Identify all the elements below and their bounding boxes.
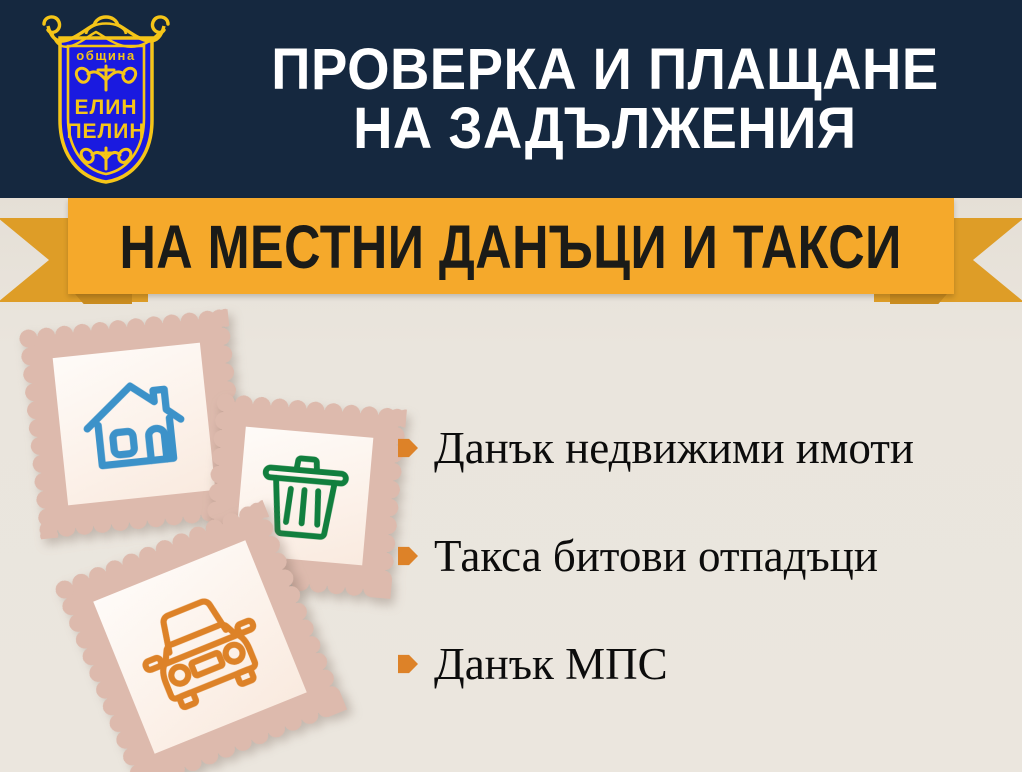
stamps-group — [0, 300, 430, 772]
bullet-arrow-icon — [398, 436, 418, 460]
poster-canvas: община ЕЛИН ПЕЛИН — [0, 0, 1022, 772]
ribbon-banner: НА МЕСТНИ ДАНЪЦИ И ТАКСИ — [0, 196, 1022, 312]
list-item-label: Данък недвижими имоти — [434, 426, 914, 471]
house-icon — [72, 362, 195, 485]
coat-of-arms-icon: община ЕЛИН ПЕЛИН — [26, 8, 186, 190]
stamp-car-paper — [93, 540, 306, 753]
car-front-icon — [121, 571, 278, 722]
page-title: ПРОВЕРКА И ПЛАЩАНЕ НА ЗАДЪЛЖЕНИЯ — [196, 14, 1014, 184]
title-line-1: ПРОВЕРКА И ПЛАЩАНЕ — [271, 40, 938, 99]
bullet-arrow-icon — [398, 652, 418, 676]
header-banner: община ЕЛИН ПЕЛИН — [0, 0, 1022, 198]
list-item[interactable]: Такса битови отпадъци — [398, 528, 1016, 584]
list-item[interactable]: Данък МПС — [398, 636, 1016, 692]
ribbon-main-panel: НА МЕСТНИ ДАНЪЦИ И ТАКСИ — [68, 198, 954, 294]
stamp-house-paper — [53, 343, 216, 506]
ribbon-subtitle: НА МЕСТНИ ДАНЪЦИ И ТАКСИ — [120, 210, 902, 282]
bullet-arrow-icon — [398, 544, 418, 568]
list-item[interactable]: Данък недвижими имоти — [398, 420, 1016, 476]
svg-text:ПЕЛИН: ПЕЛИН — [66, 120, 145, 143]
svg-text:ЕЛИН: ЕЛИН — [74, 96, 137, 119]
services-list: Данък недвижими имоти Такса битови отпад… — [398, 420, 1016, 744]
title-line-2: НА ЗАДЪЛЖЕНИЯ — [353, 99, 856, 158]
list-item-label: Данък МПС — [434, 642, 668, 687]
svg-text:община: община — [76, 48, 136, 63]
list-item-label: Такса битови отпадъци — [434, 534, 878, 579]
